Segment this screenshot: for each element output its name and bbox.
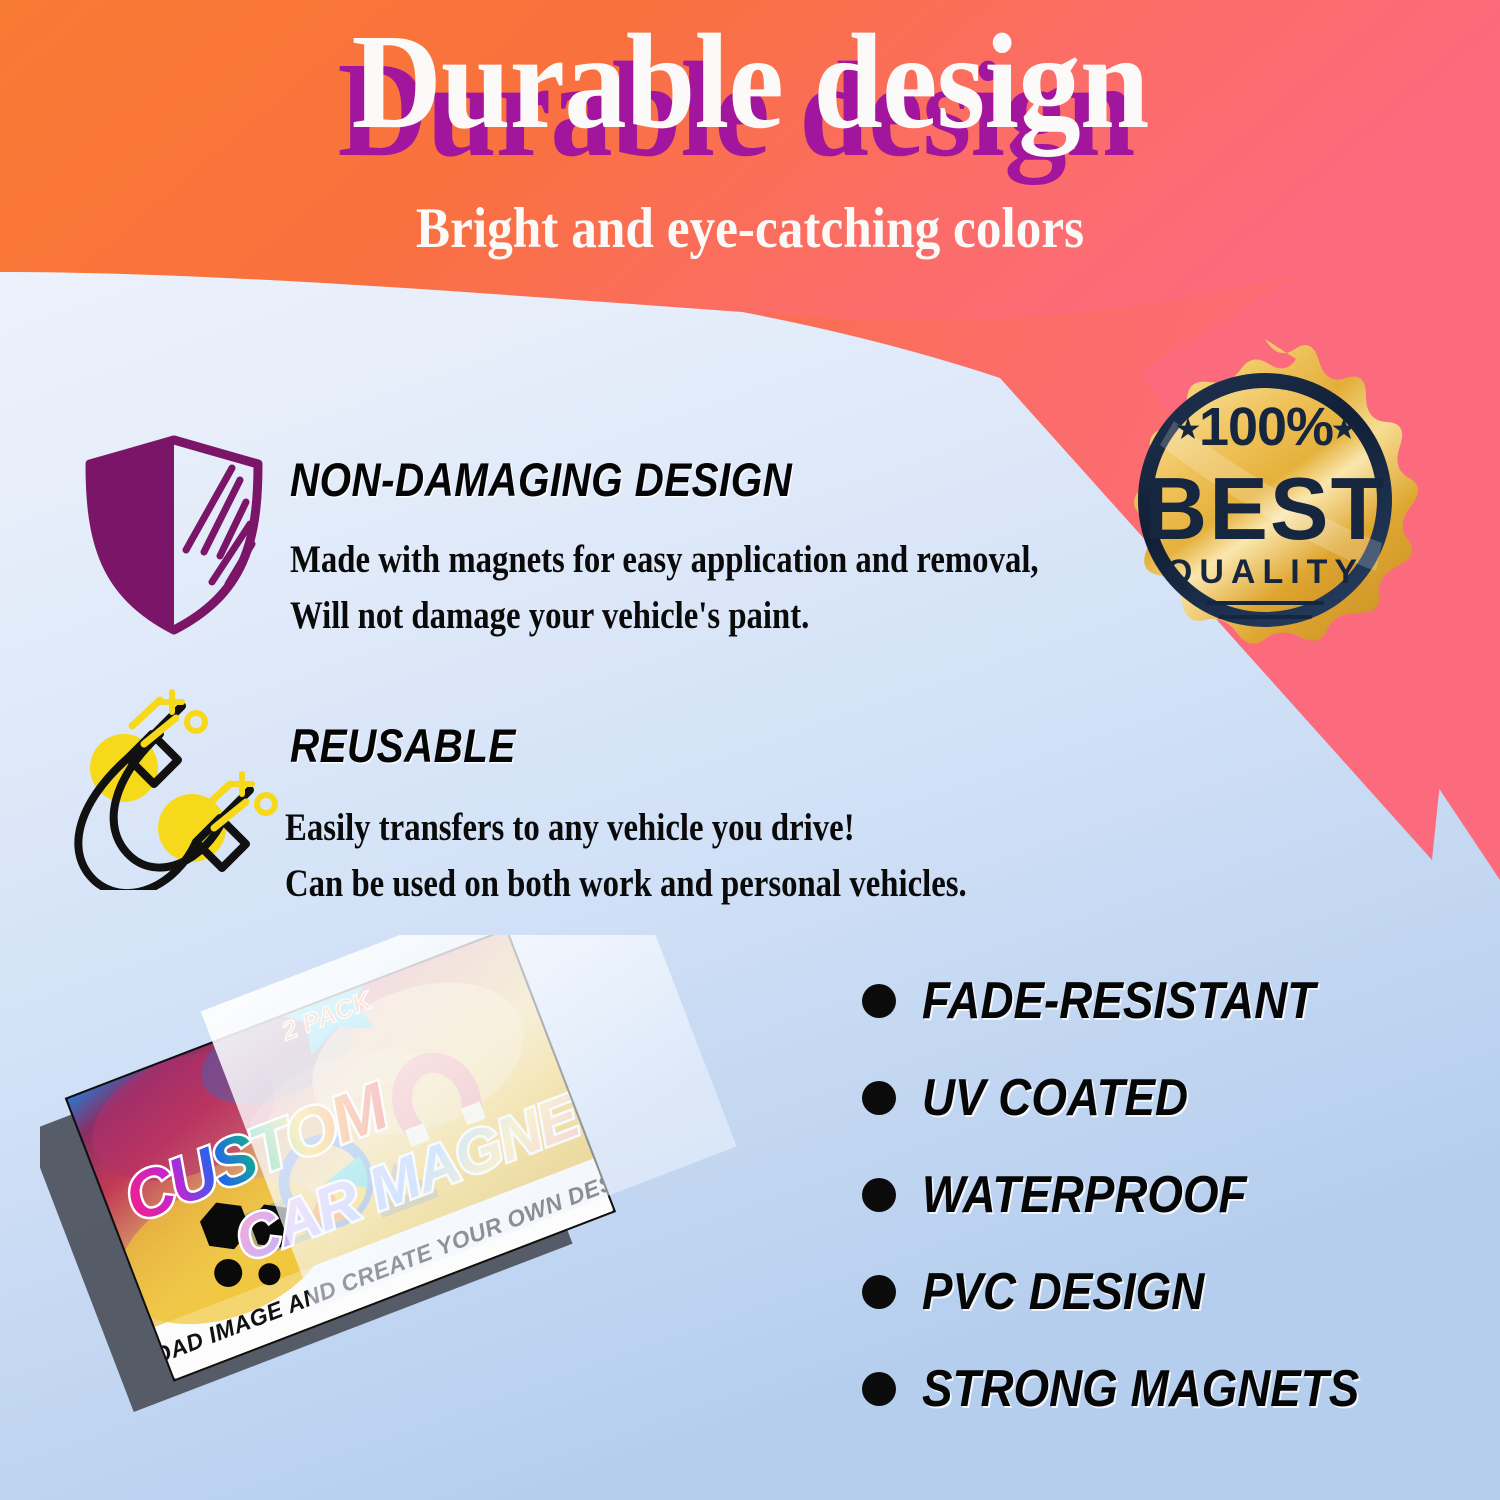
badge-percent: 100% [1199,397,1333,457]
page-title-text: Durable design [60,14,1440,150]
shield-icon [74,432,274,638]
feature-bullet-list: FADE-RESISTANT UV COATED WATERPROOF PVC … [862,952,1482,1437]
list-item: WATERPROOF [862,1146,1482,1243]
feature-heading: REUSABLE [290,718,516,773]
badge-star-right: ★ [1331,413,1358,446]
bullet-dot-icon [862,1178,896,1212]
page-title: Durable design Durable design [0,0,1500,170]
bullet-label: STRONG MAGNETS [922,1359,1359,1419]
bullet-dot-icon [862,984,896,1018]
bullet-dot-icon [862,1372,896,1406]
best-quality-badge: ★ 100% ★ BEST QUALITY [1100,335,1430,665]
feature-line: Can be used on both work and personal ve… [285,856,967,911]
bullet-dot-icon [862,1275,896,1309]
product-photo: 2 PACK CUSTOM CAR MAGNETS UPLOAD IMAGE A… [40,935,760,1480]
badge-star-left: ★ [1175,413,1202,446]
bullet-label: PVC DESIGN [922,1262,1204,1322]
bullet-label: FADE-RESISTANT [922,971,1315,1031]
badge-sub-text: QUALITY [1166,553,1364,591]
bullet-label: UV COATED [922,1068,1188,1128]
feature-line: Will not damage your vehicle's paint. [290,588,809,643]
feature-line: Easily transfers to any vehicle you driv… [285,800,855,855]
list-item: PVC DESIGN [862,1243,1482,1340]
bullet-label: WATERPROOF [922,1165,1247,1225]
magnet-icon [56,686,288,890]
list-item: UV COATED [862,1049,1482,1146]
list-item: STRONG MAGNETS [862,1340,1482,1437]
page-subtitle: Bright and eye-catching colors [75,196,1425,261]
badge-main-text: BEST [1144,459,1387,558]
bullet-dot-icon [862,1081,896,1115]
feature-heading: NON-DAMAGING DESIGN [290,452,792,507]
header: Durable design Durable design Bright and… [0,0,1500,170]
list-item: FADE-RESISTANT [862,952,1482,1049]
feature-line: Made with magnets for easy application a… [290,532,1039,587]
infographic-canvas: Durable design Durable design Bright and… [0,0,1500,1500]
